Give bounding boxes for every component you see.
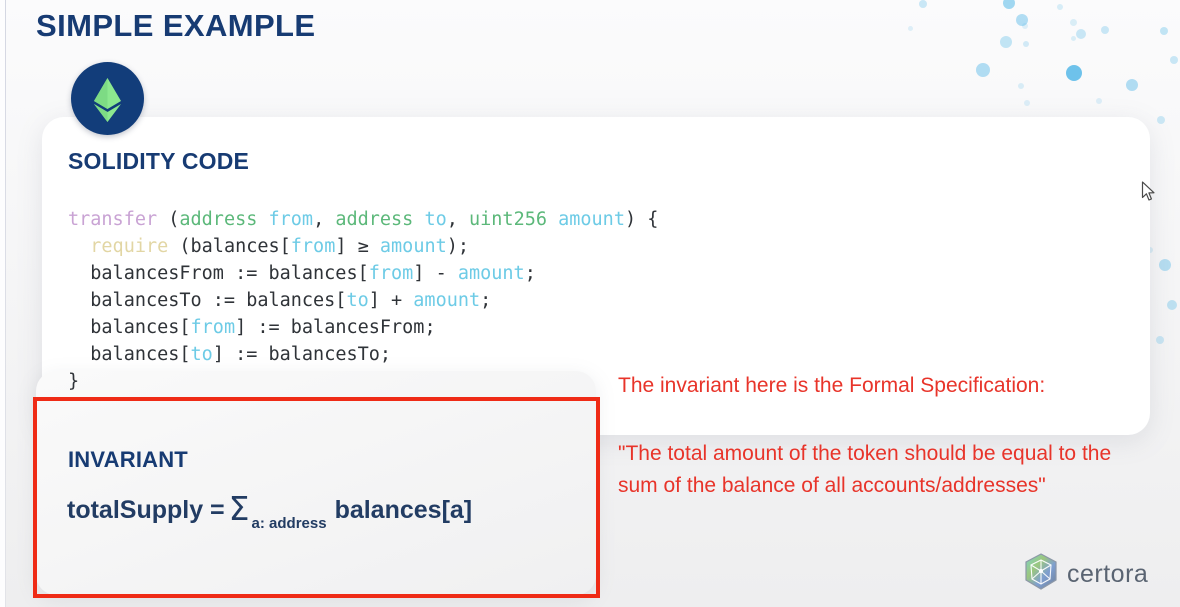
code-token: balancesTo := balances[ <box>68 290 346 311</box>
code-token: from <box>269 209 314 230</box>
decorative-dot <box>1024 100 1030 106</box>
decorative-dot <box>1003 0 1015 9</box>
decorative-dot <box>919 0 927 8</box>
code-token: amount <box>413 290 480 311</box>
formula-subscript: a: address <box>252 515 327 532</box>
code-token: balances[ <box>68 344 191 365</box>
decorative-dot <box>908 26 913 31</box>
decorative-dot <box>1159 259 1171 271</box>
code-token: (balances[ <box>168 236 291 257</box>
ethereum-icon <box>71 62 144 135</box>
decorative-dot <box>1022 23 1028 29</box>
code-token: balances[ <box>68 317 191 338</box>
sigma-icon: Σ <box>229 489 250 528</box>
decorative-dot <box>1016 14 1028 26</box>
decorative-dot <box>1076 29 1086 39</box>
code-token: to <box>346 290 368 311</box>
certora-wordmark: certora <box>1067 560 1148 589</box>
code-token: ] := balancesFrom; <box>235 317 435 338</box>
code-token: address <box>335 209 413 230</box>
certora-logo: certora <box>1024 553 1148 596</box>
decorative-dot <box>1070 19 1077 26</box>
code-token: address <box>179 209 257 230</box>
code-token: ( <box>157 209 179 230</box>
invariant-formula: totalSupply =Σa: addressbalances[a] <box>67 490 472 525</box>
code-token: from <box>191 317 236 338</box>
code-token <box>68 236 90 257</box>
code-token: ] ≥ <box>335 236 380 257</box>
decorative-dot <box>1101 26 1109 34</box>
decorative-dot <box>976 63 990 77</box>
decorative-dot <box>1170 56 1178 64</box>
page-title: SIMPLE EXAMPLE <box>36 8 315 44</box>
annotation-line-2: "The total amount of the token should be… <box>618 438 1118 502</box>
decorative-dot <box>1071 36 1076 41</box>
decorative-dot <box>1156 336 1164 344</box>
decorative-dot <box>1018 83 1024 89</box>
code-token: } <box>68 371 79 392</box>
code-token: ] := balancesTo; <box>213 344 391 365</box>
decorative-dot <box>1126 79 1138 91</box>
decorative-dot <box>1167 300 1177 310</box>
code-token: ] + <box>369 290 414 311</box>
code-token: ; <box>525 263 536 284</box>
decorative-dot <box>1023 41 1029 47</box>
decorative-dot <box>1066 65 1082 81</box>
code-token: ; <box>480 290 491 311</box>
code-token <box>547 209 558 230</box>
decorative-dot <box>1157 116 1165 124</box>
code-token: , <box>313 209 335 230</box>
code-token: amount <box>558 209 625 230</box>
formula-lhs: totalSupply = <box>67 496 225 524</box>
code-token <box>413 209 424 230</box>
mouse-cursor <box>1141 181 1157 208</box>
decorative-dot <box>1000 36 1012 48</box>
code-token: require <box>90 236 168 257</box>
code-token: from <box>369 263 414 284</box>
left-vertical-rule <box>5 0 6 607</box>
code-token: ) { <box>625 209 658 230</box>
decorative-dot <box>1096 98 1102 104</box>
solidity-code-heading: SOLIDITY CODE <box>68 148 249 175</box>
code-token: ] - <box>413 263 458 284</box>
code-token: uint256 <box>469 209 547 230</box>
code-token: to <box>424 209 446 230</box>
summation-symbol-group: Σa: address <box>229 490 325 525</box>
code-token: to <box>191 344 213 365</box>
code-token: transfer <box>68 209 157 230</box>
invariant-heading: INVARIANT <box>68 447 188 473</box>
code-token: from <box>291 236 336 257</box>
code-token: ); <box>447 236 469 257</box>
formula-rhs: balances[a] <box>335 496 473 524</box>
certora-shield-icon <box>1024 553 1058 596</box>
code-token: amount <box>380 236 447 257</box>
code-token: amount <box>458 263 525 284</box>
solidity-code-block: transfer (address from, address to, uint… <box>68 206 658 395</box>
decorative-dot <box>1160 27 1168 35</box>
slide-canvas: SIMPLE EXAMPLE SOLIDITY CODE transfer (a… <box>0 0 1180 607</box>
code-token <box>257 209 268 230</box>
code-token: balancesFrom := balances[ <box>68 263 369 284</box>
decorative-dot <box>1057 4 1063 10</box>
annotation-line-1: The invariant here is the Formal Specifi… <box>618 374 1045 398</box>
code-token: , <box>447 209 469 230</box>
